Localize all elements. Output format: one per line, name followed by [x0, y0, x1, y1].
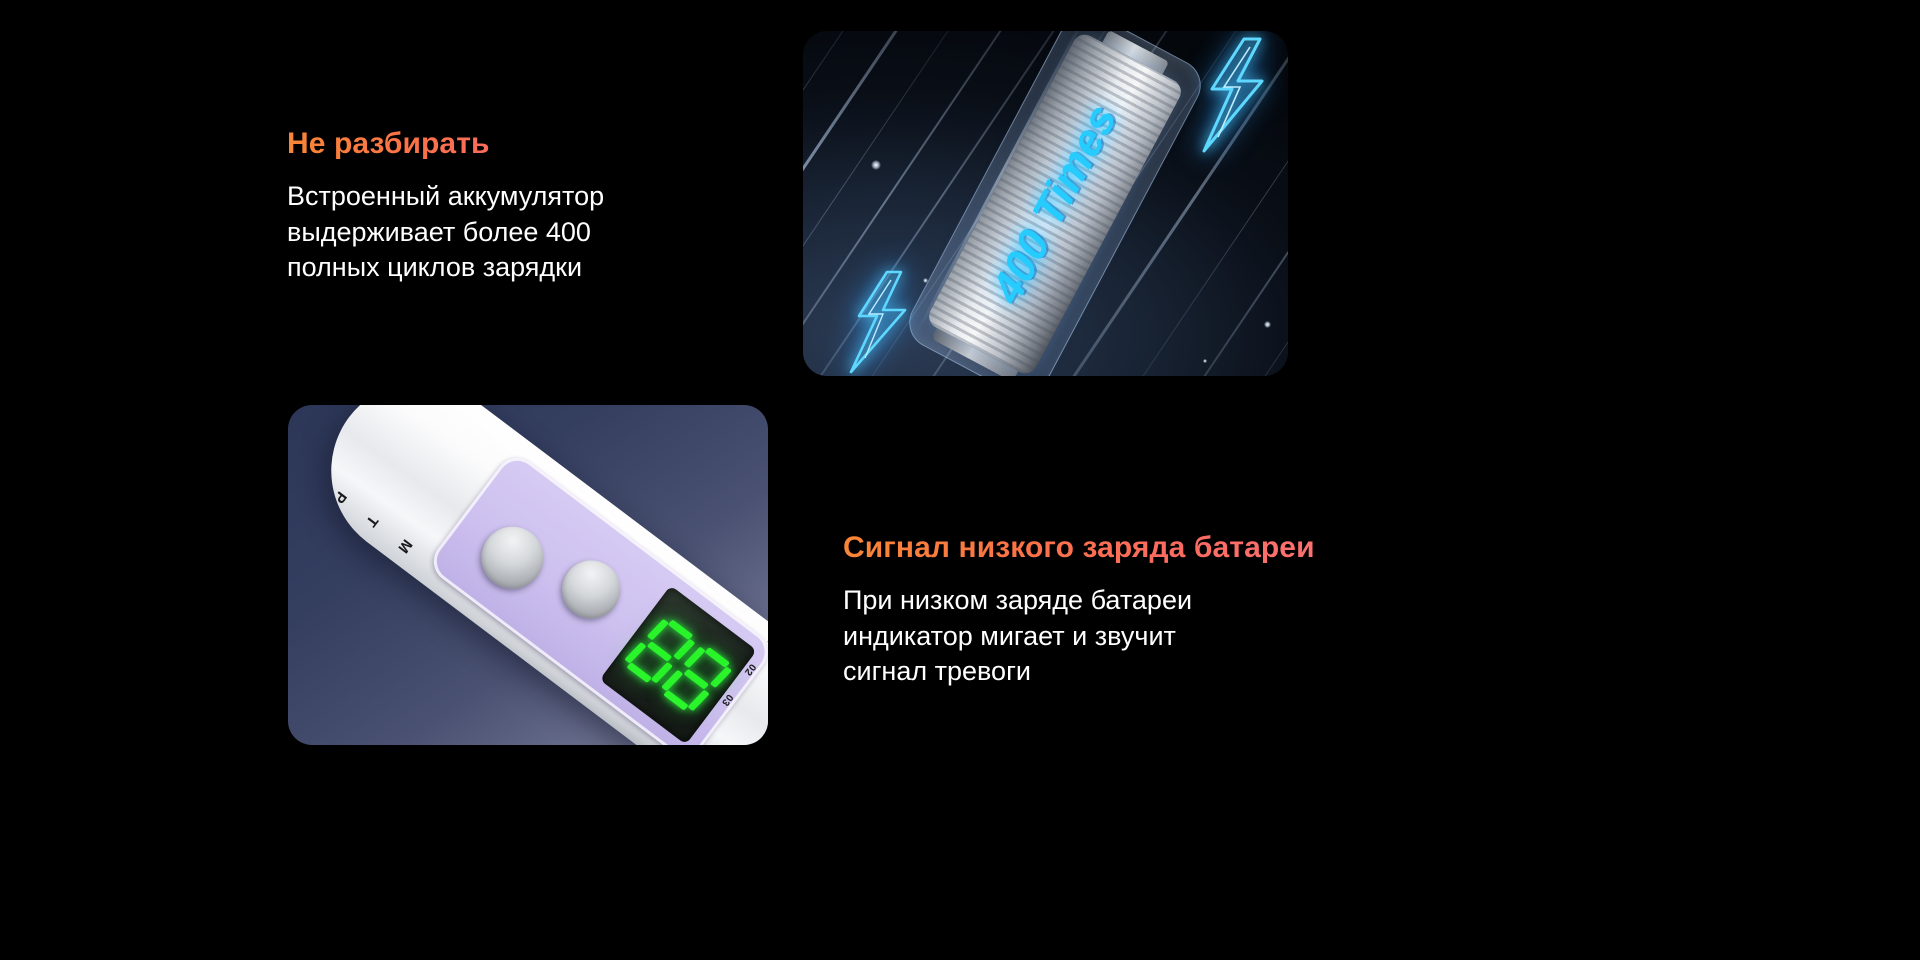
feature-body-low-battery-alarm: При низком заряде батареи индикатор мига…	[843, 583, 1315, 690]
device-image-card: P T M	[288, 405, 768, 745]
body-line: выдерживает более 400	[287, 215, 604, 251]
feature-block-low-battery-alarm: Сигнал низкого заряда батареи При низком…	[843, 530, 1315, 690]
lightning-bolt-icon	[839, 270, 919, 374]
feature-heading-low-battery-alarm: Сигнал низкого заряда батареи	[843, 530, 1315, 566]
device-button-lower[interactable]	[469, 514, 556, 601]
battery-image-card: 400 Times	[803, 31, 1288, 376]
lightning-bolt-icon	[1186, 37, 1278, 153]
product-feature-page: Не разбирать Встроенный аккумулятор выде…	[0, 0, 1920, 960]
feature-heading-no-disassembly: Не разбирать	[287, 126, 604, 162]
body-line: сигнал тревоги	[843, 654, 1315, 690]
body-line: индикатор мигает и звучит	[843, 619, 1315, 655]
body-line: Встроенный аккумулятор	[287, 179, 604, 215]
body-line: полных циклов зарядки	[287, 250, 604, 286]
handheld-device-illustration: P T M	[296, 405, 768, 745]
feature-body-no-disassembly: Встроенный аккумулятор выдерживает более…	[287, 179, 604, 286]
body-line: При низком заряде батареи	[843, 583, 1315, 619]
device-button-upper[interactable]	[551, 549, 632, 630]
feature-block-no-disassembly: Не разбирать Встроенный аккумулятор выде…	[287, 126, 604, 286]
lcd-digits	[621, 615, 736, 715]
